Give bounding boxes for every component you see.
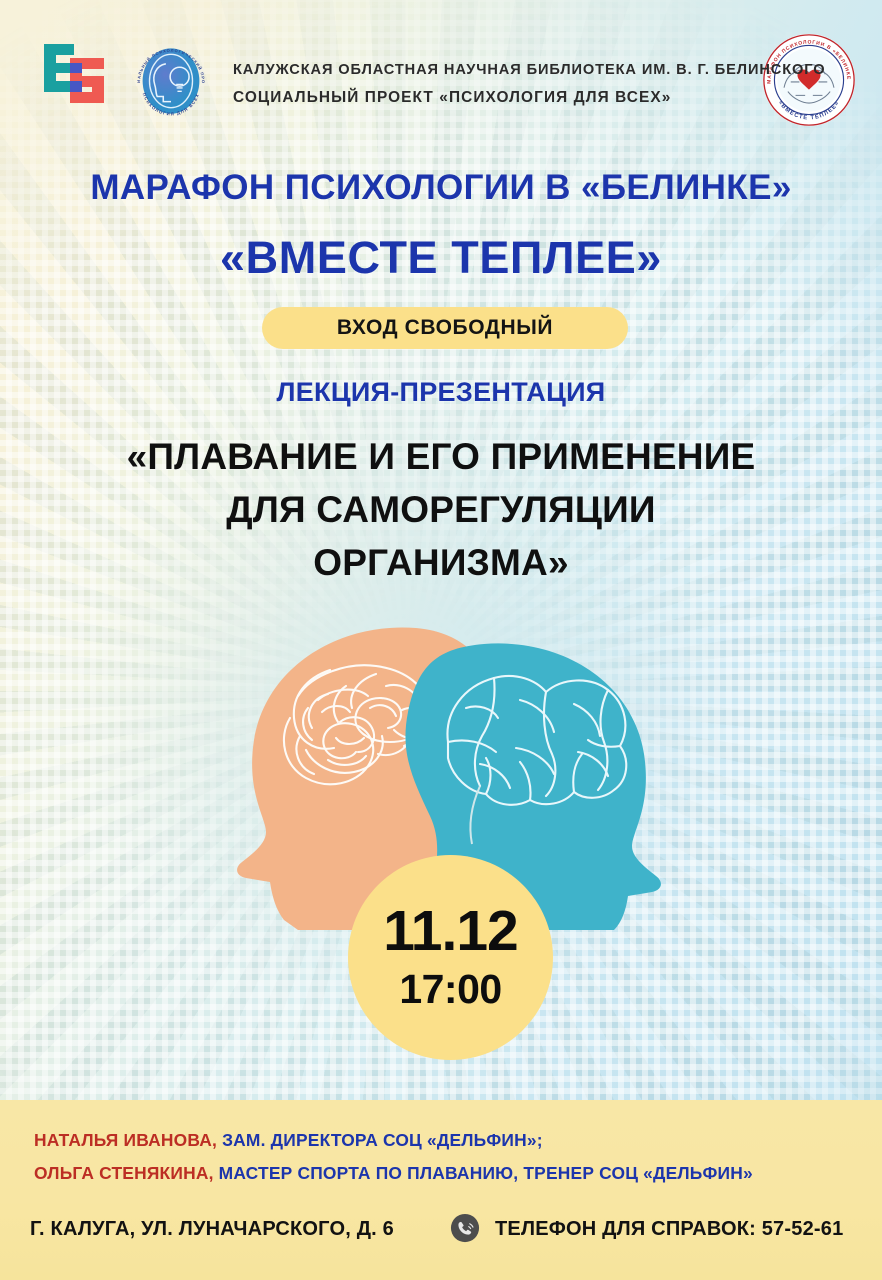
- speaker-row-2: ОЛЬГА СТЕНЯКИНА, МАСТЕР СПОРТА ПО ПЛАВАН…: [34, 1163, 753, 1184]
- date-time-badge: 11.12 17:00: [348, 855, 553, 1060]
- library-name: КАЛУЖСКАЯ ОБЛАСТНАЯ НАУЧНАЯ БИБЛИОТЕКА И…: [233, 56, 753, 84]
- lecture-title-line-3: ОРГАНИЗМА»: [0, 536, 882, 589]
- free-entry-badge: ВХОД СВОБОДНЫЙ: [262, 307, 628, 349]
- header-text-block: КАЛУЖСКАЯ ОБЛАСТНАЯ НАУЧНАЯ БИБЛИОТЕКА И…: [233, 56, 753, 112]
- lecture-kind-label: ЛЕКЦИЯ-ПРЕЗЕНТАЦИЯ: [0, 377, 882, 408]
- lecture-title-line-2: ДЛЯ САМОРЕГУЛЯЦИИ: [0, 483, 882, 536]
- lecture-title: «ПЛАВАНИЕ И ЕГО ПРИМЕНЕНИЕ ДЛЯ САМОРЕГУЛ…: [0, 430, 882, 589]
- footer-bar: НАТАЛЬЯ ИВАНОВА, ЗАМ. ДИРЕКТОРА СОЦ «ДЕЛ…: [0, 1100, 882, 1280]
- phone-icon: [450, 1213, 480, 1243]
- speaker-name-1: НАТАЛЬЯ ИВАНОВА,: [34, 1130, 222, 1150]
- speaker-role-2: МАСТЕР СПОРТА ПО ПЛАВАНИЮ, ТРЕНЕР СОЦ «Д…: [219, 1163, 753, 1183]
- venue-address: Г. КАЛУГА, УЛ. ЛУНАЧАРСКОГО, Д. 6: [30, 1218, 394, 1241]
- event-time: 17:00: [399, 965, 501, 1013]
- psychology-project-logo-icon: СОЦИАЛЬНЫЙ ПСИХОЛОГИЧЕСКИЙ ПРОЕКТ ПСИХОЛ…: [128, 38, 214, 124]
- together-warmer-title: «ВМЕСТЕ ТЕПЛЕЕ»: [0, 232, 882, 284]
- lecture-title-line-1: «ПЛАВАНИЕ И ЕГО ПРИМЕНЕНИЕ: [0, 430, 882, 483]
- contact-phone: ТЕЛЕФОН ДЛЯ СПРАВОК: 57-52-61: [495, 1218, 843, 1241]
- speaker-role-1: ЗАМ. ДИРЕКТОРА СОЦ «ДЕЛЬФИН»;: [222, 1130, 543, 1150]
- project-name: СОЦИАЛЬНЫЙ ПРОЕКТ «ПСИХОЛОГИЯ ДЛЯ ВСЕХ»: [233, 84, 753, 112]
- poster-root: СОЦИАЛЬНЫЙ ПСИХОЛОГИЧЕСКИЙ ПРОЕКТ ПСИХОЛ…: [0, 0, 882, 1280]
- event-date: 11.12: [383, 903, 518, 959]
- speaker-row-1: НАТАЛЬЯ ИВАНОВА, ЗАМ. ДИРЕКТОРА СОЦ «ДЕЛ…: [34, 1130, 543, 1151]
- marathon-stamp-logo-icon: • МАРАФОН ПСИХОЛОГИИ В «БЕЛИНКЕ» • «ВМЕС…: [761, 32, 857, 128]
- marathon-title: МАРАФОН ПСИХОЛОГИИ В «БЕЛИНКЕ»: [0, 168, 882, 208]
- bb-logo-icon: [42, 40, 116, 118]
- header-bar: СОЦИАЛЬНЫЙ ПСИХОЛОГИЧЕСКИЙ ПРОЕКТ ПСИХОЛ…: [0, 0, 882, 150]
- free-entry-label: ВХОД СВОБОДНЫЙ: [337, 316, 553, 340]
- speaker-name-2: ОЛЬГА СТЕНЯКИНА,: [34, 1163, 219, 1183]
